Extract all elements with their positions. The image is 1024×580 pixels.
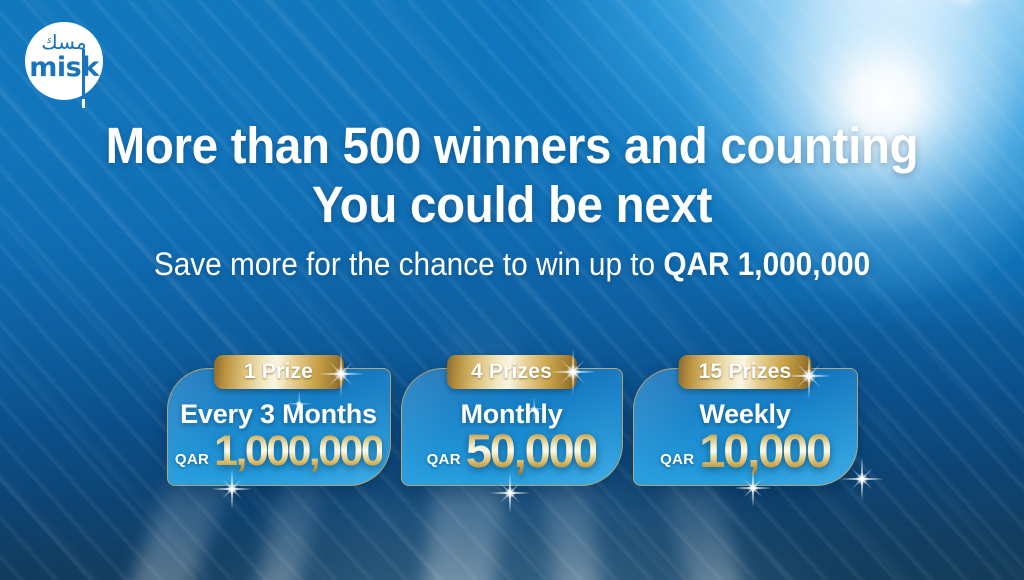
subheadline-amount: QAR 1,000,000 [663,246,870,282]
prize-amount-row: QAR 10,000 [634,426,857,476]
headline-line-1: More than 500 winners and counting [36,116,988,175]
prize-amount-row: QAR 1,000,000 [168,426,390,476]
prize-count-label: 4 Prizes [471,360,552,383]
prize-amount-row: QAR 50,000 [402,426,622,476]
subheadline-prefix: Save more for the chance to win up to [154,246,664,282]
prize-count-badge: 4 Prizes [447,355,577,389]
logo-arabic-text: مسك [25,31,103,53]
subheadline: Save more for the chance to win up to QA… [36,245,988,283]
prize-card[interactable]: 15 Prizes Weekly QAR 10,000 [633,368,858,486]
prize-count-label: 15 Prizes [699,360,792,383]
prize-amount: 50,000 [466,426,597,476]
prize-count-badge: 15 Prizes [679,355,812,389]
currency-label: QAR [175,452,209,476]
misk-logo[interactable]: مسك misk [25,22,107,108]
prize-card[interactable]: 1 Prize Every 3 Months QAR 1,000,000 [167,368,391,486]
headline-block: More than 500 winners and counting You c… [0,116,1024,283]
currency-label: QAR [427,452,461,476]
headline-line-2: You could be next [36,175,988,234]
currency-label: QAR [660,452,694,476]
promo-banner: مسك misk More than 500 winners and count… [0,0,1024,580]
prize-amount: 1,000,000 [214,426,382,476]
prize-cards: 1 Prize Every 3 Months QAR 1,000,000 [0,368,1024,486]
prize-amount: 10,000 [699,426,830,476]
vignette-overlay [0,0,1024,580]
prize-count-badge: 1 Prize [214,355,344,389]
logo-latin-text: misk [25,53,103,82]
prize-count-label: 1 Prize [244,360,313,383]
prize-card[interactable]: 4 Prizes Monthly QAR 50,000 [401,368,623,486]
